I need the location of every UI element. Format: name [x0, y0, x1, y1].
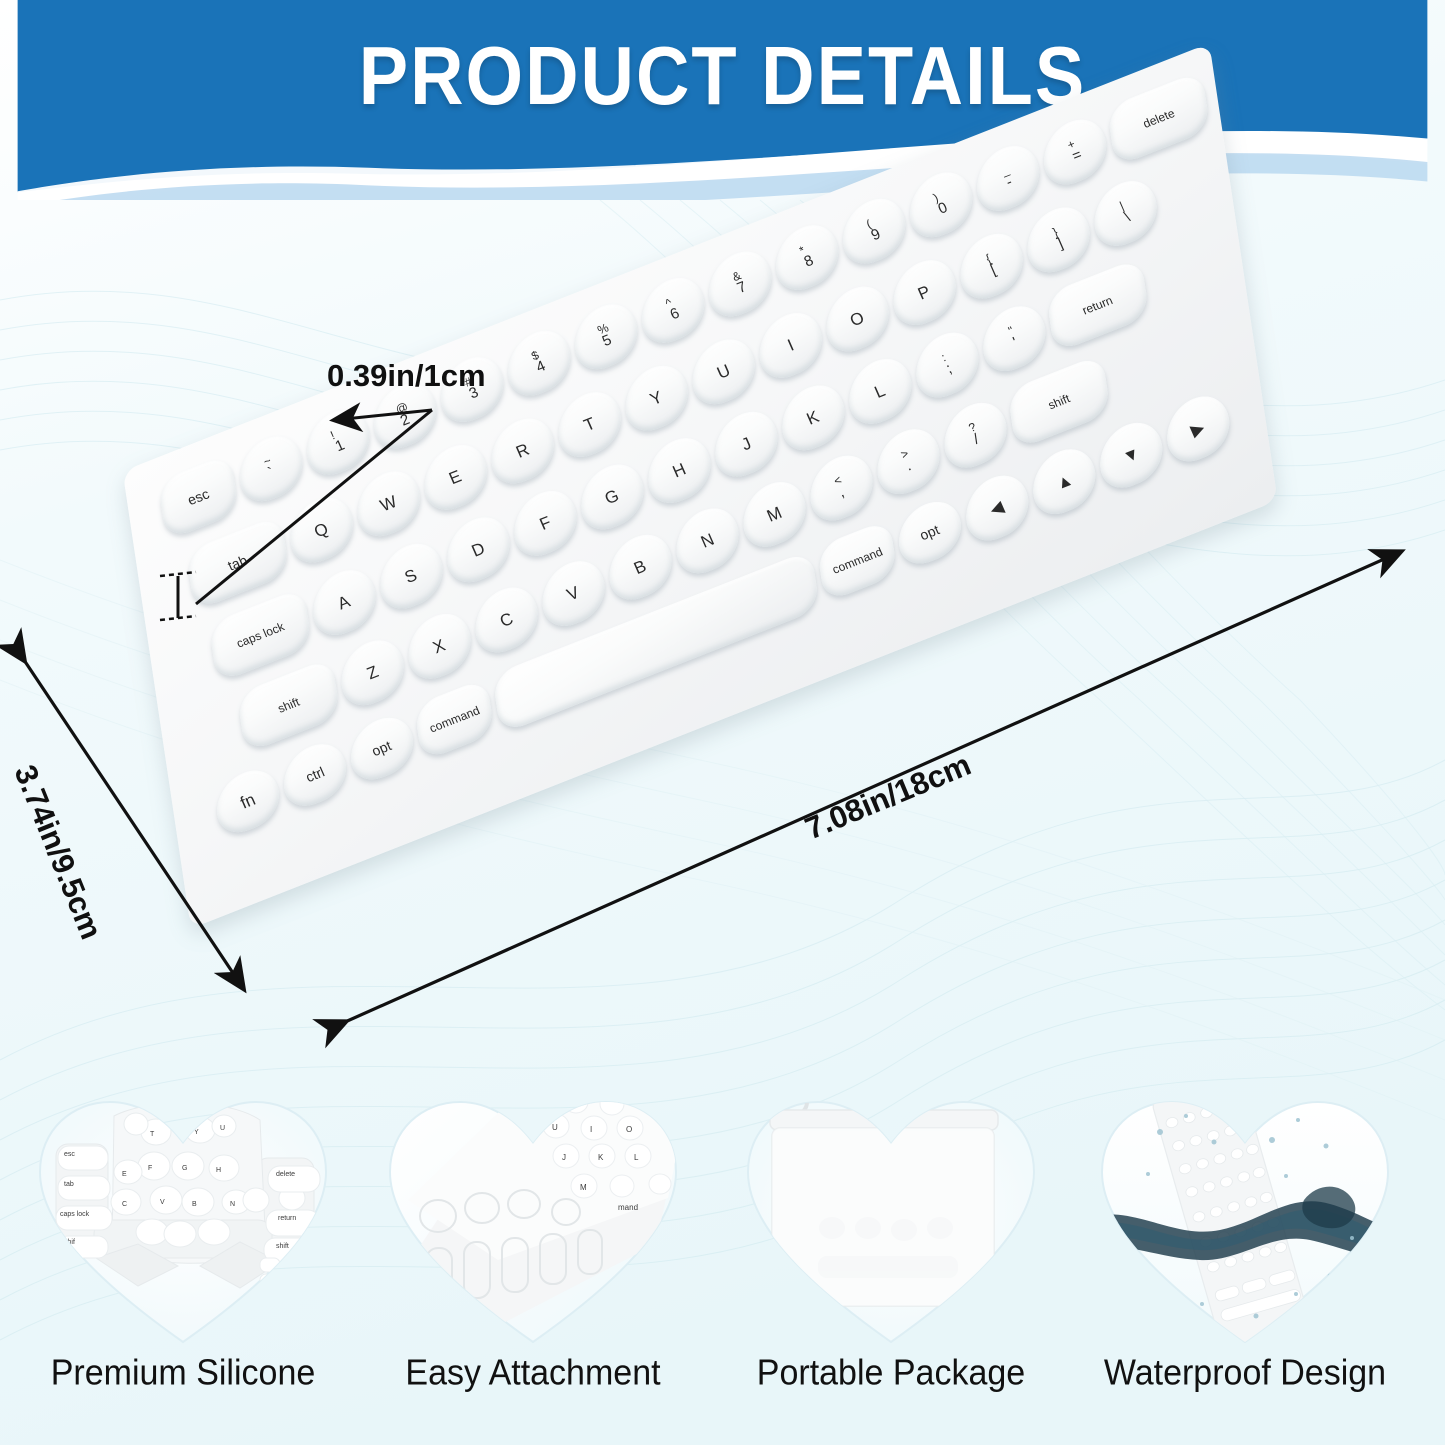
feature-caption-2: Easy Attachment — [368, 1353, 698, 1394]
arrow-right-label: ▶ — [1188, 418, 1207, 438]
svg-text:caps lock: caps lock — [60, 1211, 90, 1218]
key-ctrl-label: ctrl — [303, 765, 326, 785]
key-command-label: command — [427, 704, 481, 734]
key-sym-5-label: $4 — [530, 349, 548, 376]
page-title: PRODUCT DETAILS — [0, 28, 1445, 123]
svg-text:K: K — [598, 1153, 604, 1162]
svg-text:delete: delete — [276, 1171, 295, 1178]
key-a-label: A — [335, 592, 352, 612]
key-v-label: V — [565, 583, 582, 603]
heart-frame-2: UIO JKL M mand — [378, 1080, 688, 1348]
key-sym-11-label: {[ — [984, 253, 998, 278]
feature-item-premium-silicone: TYU FGH E VBN C esctab caps lockshif del… — [18, 1080, 348, 1393]
svg-text:H: H — [216, 1167, 221, 1174]
key-p-label: P — [916, 282, 933, 302]
key-sym-1-label: ~` — [263, 455, 280, 481]
key-sym-13-label: += — [1066, 138, 1084, 165]
key-y-label: Y — [648, 388, 665, 408]
key-r-label: R — [513, 440, 531, 460]
key-delete-label: delete — [1141, 107, 1176, 130]
key-shift-label: shift — [1046, 392, 1071, 411]
thickness-label: 0.39in/1cm — [327, 358, 486, 394]
key-b-label: B — [632, 557, 649, 577]
keyboard-cover: esc~`!1@2#3$4%5^6&7*8(9)0_-+=deletetabQW… — [158, 78, 1243, 891]
key-l-label: L — [872, 381, 888, 400]
feature-item-easy-attachment: UIO JKL M mand Easy Attachment — [368, 1080, 698, 1393]
svg-text:C: C — [122, 1201, 127, 1208]
key-d-label: D — [469, 539, 487, 559]
svg-text:mand: mand — [618, 1203, 638, 1212]
svg-text:N: N — [230, 1201, 235, 1208]
key-sym-2-label: !1 — [329, 429, 347, 456]
key-o-label: O — [848, 308, 867, 328]
arrow-left-label: ◀ — [987, 497, 1006, 517]
svg-text:U: U — [552, 1123, 558, 1132]
key-tab-label: tab — [226, 553, 250, 573]
feature-item-portable-package: Portable Package — [726, 1080, 1056, 1393]
key-e-label: E — [447, 467, 464, 487]
key-opt-label: opt — [370, 738, 394, 758]
key-sym-10-label: (9 — [865, 217, 883, 244]
key-sym-3-label: @2 — [394, 401, 416, 429]
feature-caption-4: Waterproof Design — [1080, 1353, 1410, 1394]
keyboard-illustration: esc~`!1@2#3$4%5^6&7*8(9)0_-+=deletetabQW… — [0, 170, 1445, 1070]
svg-text:shift: shift — [276, 1243, 289, 1250]
key-sym-9-label: >. — [900, 448, 917, 474]
svg-text:tab: tab — [64, 1181, 74, 1188]
key-j-label: J — [739, 434, 754, 453]
arrow-down-label: ▼ — [1120, 444, 1142, 466]
key-u-label: U — [714, 361, 732, 381]
svg-text:I: I — [590, 1125, 592, 1134]
svg-text:T: T — [150, 1131, 155, 1138]
svg-text:E: E — [122, 1171, 127, 1178]
key-g-label: G — [603, 486, 622, 506]
feature-thumb-2: UIO JKL M mand — [378, 1080, 688, 1348]
key-return-label: return — [1081, 294, 1115, 316]
key-x-label: X — [431, 636, 448, 656]
heart-frame-3 — [736, 1080, 1046, 1348]
svg-text:return: return — [278, 1215, 296, 1222]
feature-caption-1: Premium Silicone — [18, 1353, 348, 1394]
key-sym-12-label: _- — [1000, 165, 1016, 191]
product-detail-page: PRODUCT DETAILS esc~`!1@2#3$4%5^6&7*8(9)… — [0, 0, 1445, 1445]
key-caps-lock-label: caps lock — [235, 620, 286, 649]
key-sym-11-label: "' — [1007, 326, 1021, 351]
key-sym-8-label: &7 — [731, 270, 749, 297]
key-t-label: T — [581, 414, 597, 433]
svg-text:V: V — [160, 1199, 165, 1206]
svg-text:F: F — [148, 1165, 152, 1172]
key-opt-label: opt — [918, 522, 942, 542]
feature-thumb-3 — [736, 1080, 1046, 1348]
svg-text:G: G — [182, 1165, 187, 1172]
key-h-label: H — [670, 460, 688, 480]
key-m-label: M — [764, 504, 784, 525]
key-sym-7-label: ^6 — [664, 297, 682, 324]
key-shift-label: shift — [276, 696, 301, 715]
key-k-label: K — [804, 408, 821, 428]
key-sym-8-label: <, — [833, 475, 850, 501]
key-command-label: command — [830, 546, 884, 576]
key-sym-13-label: |\ — [1118, 201, 1132, 226]
arrow-up-label: ▲ — [1053, 470, 1075, 492]
svg-text:U: U — [220, 1125, 225, 1132]
svg-text:esc: esc — [64, 1151, 75, 1158]
key-c-label: C — [497, 610, 515, 630]
key-w-label: W — [378, 493, 400, 514]
feature-gallery: TYU FGH E VBN C esctab caps lockshif del… — [0, 1080, 1445, 1445]
key-sym-9-label: *8 — [798, 244, 816, 271]
svg-text:J: J — [562, 1153, 566, 1162]
key-sym-10-label: :; — [940, 352, 954, 377]
key-fn-label: fn — [238, 791, 258, 812]
heart-frame-1: TYU FGH E VBN C esctab caps lockshif del… — [28, 1080, 338, 1348]
key-sym-6-label: %5 — [596, 323, 616, 350]
key-i-label: I — [785, 336, 796, 353]
key-sym-11-label: )0 — [932, 191, 950, 218]
svg-text:O: O — [626, 1125, 632, 1134]
key-sym-10-label: ?/ — [967, 422, 983, 448]
key-s-label: S — [402, 566, 419, 586]
feature-thumb-4 — [1090, 1080, 1400, 1348]
key-esc-label: esc — [185, 486, 211, 507]
feature-thumb-1: TYU FGH E VBN C esctab caps lockshif del… — [28, 1080, 338, 1348]
svg-text:M: M — [580, 1183, 587, 1192]
key-z-label: Z — [364, 663, 380, 682]
heart-frame-4 — [1090, 1080, 1400, 1348]
key-n-label: N — [698, 530, 716, 550]
key-q-label: Q — [312, 519, 331, 539]
svg-text:B: B — [192, 1201, 197, 1208]
key-sym-12-label: }] — [1051, 227, 1065, 252]
key-f-label: F — [537, 513, 553, 532]
feature-caption-3: Portable Package — [726, 1353, 1056, 1394]
feature-item-waterproof-design: Waterproof Design — [1080, 1080, 1410, 1393]
svg-text:L: L — [634, 1153, 639, 1162]
